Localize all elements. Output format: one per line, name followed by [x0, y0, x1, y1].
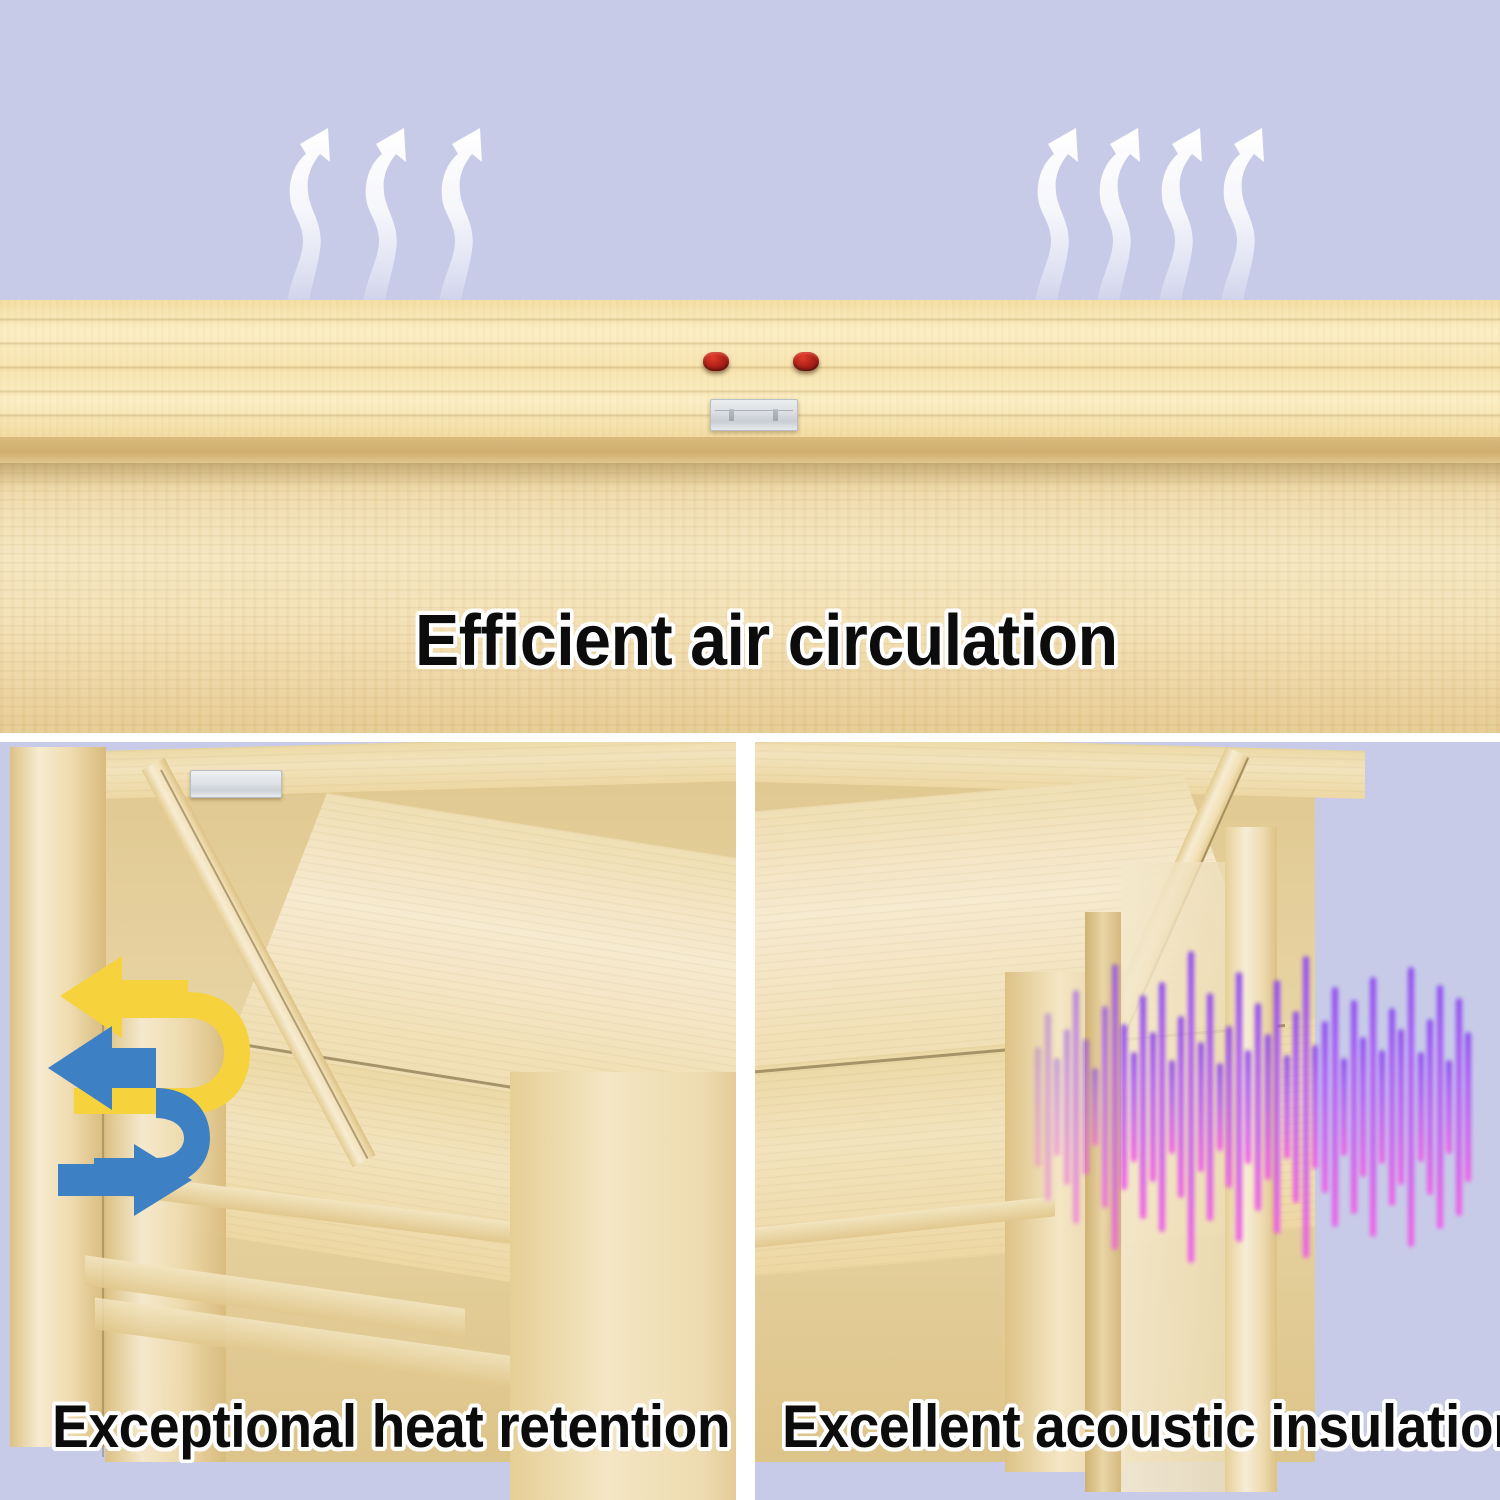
sound-wave-bar	[1150, 1032, 1156, 1183]
panel-efficient-air-circulation: Efficient air circulation	[0, 0, 1500, 733]
panel-excellent-acoustic-insulation: Excellent acoustic insulation	[755, 742, 1500, 1500]
heat-arrow-6	[1158, 128, 1202, 318]
sound-wave-bar	[1226, 1026, 1232, 1187]
sound-wave-bar	[1073, 990, 1079, 1224]
circulation-arrows-group	[38, 952, 298, 1232]
heat-arrow-1	[286, 128, 330, 318]
sound-wave-bar	[1169, 1060, 1175, 1154]
sound-wave-bar	[1360, 1037, 1366, 1177]
sound-wave-bar	[1198, 1042, 1204, 1172]
sound-wave-bar	[1245, 1050, 1251, 1164]
sound-wave-bar	[1207, 993, 1213, 1222]
sound-wave-bar	[1389, 1008, 1395, 1206]
caption-excellent-acoustic-insulation: Excellent acoustic insulation	[782, 1392, 1500, 1461]
sound-wave-bar	[1408, 967, 1414, 1248]
heat-arrow-4	[1034, 128, 1078, 318]
caption-exceptional-heat-retention: Exceptional heat retention	[52, 1392, 730, 1461]
sound-wave-bar	[1427, 1019, 1433, 1196]
sound-wave-bar	[1456, 998, 1462, 1216]
lid-front-face	[0, 463, 1500, 733]
sound-wave-bar	[1265, 1034, 1271, 1180]
lid-bracket-top-panel[interactable]	[710, 399, 798, 431]
heat-arrows-right-group	[1020, 118, 1280, 318]
heat-arrow-2	[362, 128, 406, 318]
sound-wave-bar	[1465, 1032, 1471, 1183]
sound-wave-bar	[1140, 995, 1146, 1219]
sound-wave-bar	[1332, 987, 1338, 1226]
sound-wave-bar	[1035, 1047, 1041, 1167]
bracket2-screw-right	[191, 781, 281, 791]
sound-wave-bar	[1379, 1050, 1385, 1164]
sound-wave-bar	[1437, 985, 1443, 1229]
sound-wave-bar	[1255, 1003, 1261, 1211]
sound-wave-bar	[1054, 1058, 1060, 1157]
sound-wave-bar	[1092, 1068, 1098, 1146]
bracket-screw-right	[773, 409, 778, 421]
feature-collage: Efficient air circulation	[0, 0, 1500, 1500]
heat-arrow-5	[1096, 128, 1140, 318]
sound-wave-bar	[1370, 977, 1376, 1237]
sound-wave-bar	[1102, 1006, 1108, 1209]
sound-wave-bar	[1274, 980, 1280, 1235]
lid-front-shadow	[0, 463, 1500, 489]
lid-front-bevel	[0, 437, 1500, 465]
sound-wave-bar	[1178, 1016, 1184, 1198]
bracket2-screw-left	[191, 771, 281, 781]
sound-wave-bar	[1217, 1063, 1223, 1151]
sound-wave-bar	[1303, 956, 1309, 1258]
sound-wave-bar	[1398, 1029, 1404, 1185]
sound-wave-bar	[1446, 1060, 1452, 1154]
sound-wave-bar	[1341, 1058, 1347, 1157]
vent-button-right[interactable]	[793, 352, 819, 371]
lid-bracket-bottom-left-panel[interactable]	[190, 770, 282, 798]
sound-wave-bar	[1083, 1039, 1089, 1174]
sound-wave-bar	[1418, 1052, 1424, 1161]
bracket-screw-left	[729, 409, 734, 421]
sound-wave-bar	[1236, 972, 1242, 1242]
lid-front-grain	[0, 463, 1500, 733]
vent-button-left[interactable]	[703, 352, 729, 371]
sound-wave-bar	[1159, 982, 1165, 1232]
sound-wave-bar	[1284, 1055, 1290, 1159]
sound-wave-bar	[1293, 1011, 1299, 1203]
sound-wave-bar	[1188, 951, 1194, 1263]
sound-wave-bar	[1322, 1021, 1328, 1193]
sound-wave-bars	[1035, 937, 1475, 1277]
sound-wave-bar	[1112, 964, 1118, 1250]
heat-arrows-left-group	[262, 118, 522, 318]
bracket-seam	[715, 410, 793, 411]
heat-arrow-7	[1220, 128, 1264, 318]
sound-wave-bar	[1312, 1045, 1318, 1170]
sound-wave-bar	[1131, 1052, 1137, 1161]
sound-wave-bar	[1064, 1029, 1070, 1185]
caption-efficient-air-circulation: Efficient air circulation	[415, 600, 1118, 682]
heat-arrow-3	[438, 128, 482, 318]
cool-air-loop-arrow-lower	[58, 1144, 192, 1216]
sound-wave-bar	[1351, 1000, 1357, 1213]
sound-wave-bar	[1121, 1024, 1127, 1190]
panel-gutter-vertical	[736, 733, 755, 1500]
panel-exceptional-heat-retention: Exceptional heat retention	[0, 742, 736, 1500]
sound-wave-bar	[1045, 1013, 1051, 1200]
